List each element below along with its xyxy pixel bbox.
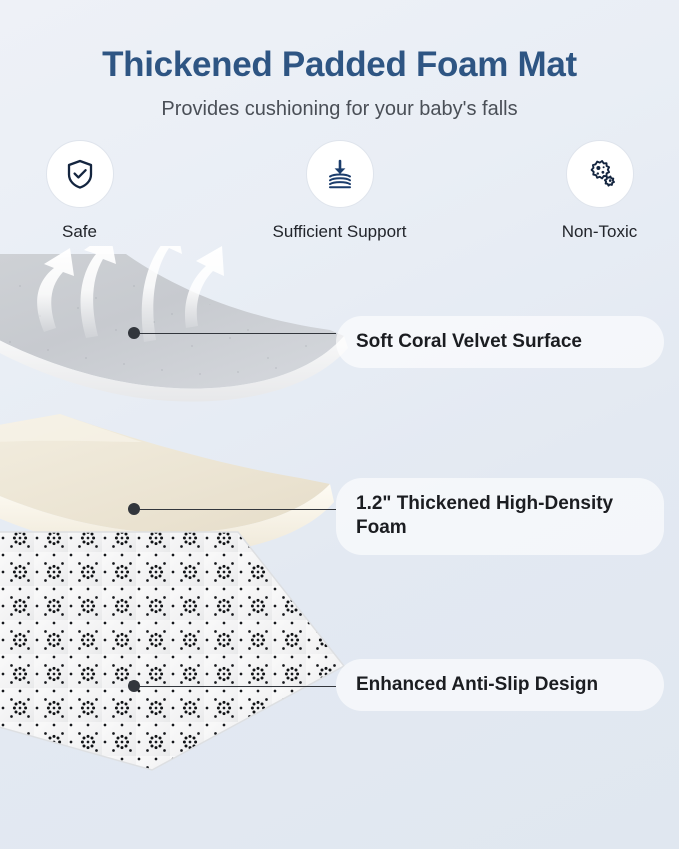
callout-text: Soft Coral Velvet Surface [356, 330, 582, 354]
product-infographic: Thickened Padded Foam Mat Provides cushi… [0, 0, 679, 849]
page-title: Thickened Padded Foam Mat [0, 46, 679, 85]
feature-icon-circle [566, 140, 634, 208]
page-subtitle: Provides cushioning for your baby's fall… [0, 97, 679, 121]
feature-label: Safe [62, 222, 97, 242]
callout-anti-slip-design: Enhanced Anti-Slip Design [336, 659, 664, 711]
feature-badge-safe: Safe [5, 140, 155, 242]
velvet-top-layer [0, 246, 348, 402]
callout-text: Enhanced Anti-Slip Design [356, 673, 598, 697]
shield-check-icon [63, 157, 97, 191]
feature-badge-list: Safe Sufficient Support [0, 140, 679, 242]
feature-label: Sufficient Support [273, 222, 407, 242]
anti-slip-bottom-layer [0, 532, 344, 770]
feature-icon-circle [306, 140, 374, 208]
feature-icon-circle [46, 140, 114, 208]
callout-text: 1.2" Thickened High-Density Foam [356, 492, 644, 541]
feature-badge-sufficient-support: Sufficient Support [265, 140, 415, 242]
feature-label: Non-Toxic [562, 222, 638, 242]
arrow-down-cushion-icon [323, 157, 357, 191]
header: Thickened Padded Foam Mat Provides cushi… [0, 0, 679, 121]
callout-thickened-foam: 1.2" Thickened High-Density Foam [336, 478, 664, 555]
feature-badge-non-toxic: Non-Toxic [525, 140, 675, 242]
germ-icon [583, 157, 617, 191]
callout-velvet-surface: Soft Coral Velvet Surface [336, 316, 664, 368]
